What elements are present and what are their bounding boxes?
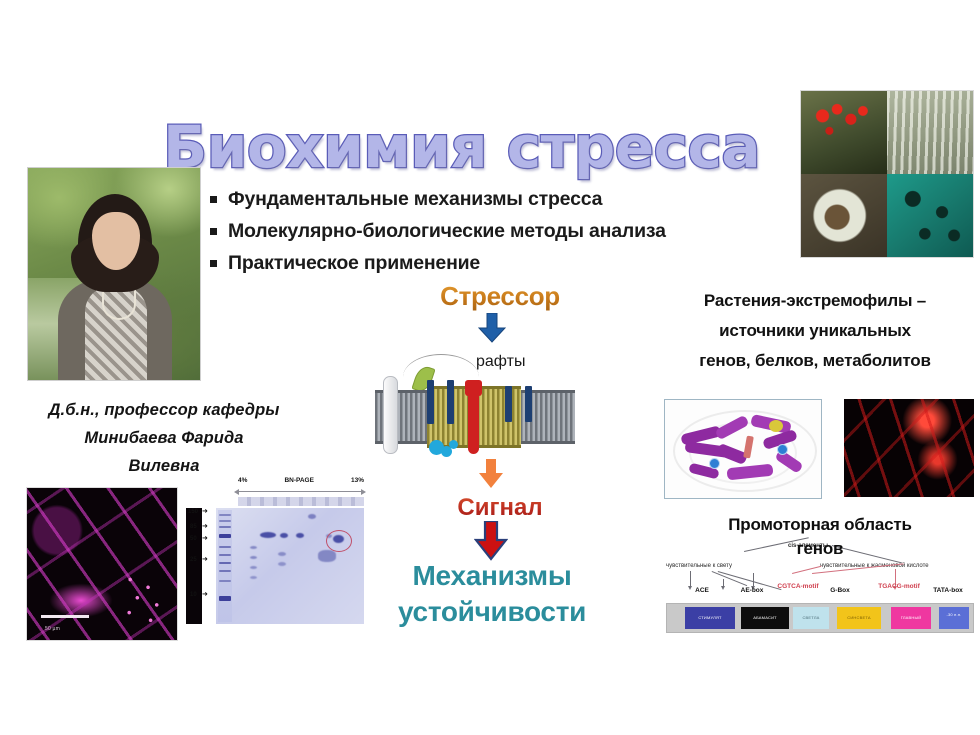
- rafts-label: рафты: [476, 353, 525, 371]
- gel-gradient-arrow-icon: [238, 491, 362, 492]
- gel-header: 4% BN-PAGE 13%: [238, 477, 364, 484]
- promoter-element-label: TGACG-motif: [872, 583, 926, 590]
- arrow-down-blue-icon: [478, 313, 506, 343]
- scale-bar-label: 50 µm: [45, 626, 60, 632]
- promoter-element-label: G-Box: [818, 587, 862, 594]
- extremophile-caption: Растения-экстремофилы – источники уникал…: [650, 286, 980, 376]
- gel-marker: 50: [190, 536, 197, 542]
- channel-protein: [383, 376, 398, 454]
- mechanisms-line-2: устойчивости: [398, 596, 586, 627]
- collage-photo-leaf-teal: [887, 174, 973, 257]
- gel-marker: 25: [190, 557, 197, 563]
- gel-header-right: 13%: [351, 477, 364, 484]
- promoter-region-diagram: cis-элементы чувствительные к свету чувс…: [660, 513, 980, 641]
- arrow-down-orange-icon: [478, 459, 504, 489]
- gel-marker-arrow-icon: ➜: [202, 523, 208, 530]
- portrait-photo: [27, 167, 201, 381]
- author-line-1: Д.б.н., профессор кафедры: [14, 396, 314, 424]
- transmembrane-protein: [525, 386, 532, 422]
- membrane-diagram: [375, 368, 575, 460]
- gel-ladder-lane: [218, 510, 232, 622]
- author-caption: Д.б.н., профессор кафедры Минибаева Фари…: [14, 396, 314, 480]
- protein-structure-image: [664, 399, 822, 499]
- collage-photo-lichen-white: [887, 91, 973, 174]
- gel-marker: 150: [188, 509, 198, 515]
- transmembrane-protein: [427, 380, 434, 424]
- promoter-box-text: СТИМУЛЯТ: [685, 607, 735, 620]
- page-title: Биохимия стресса: [163, 113, 763, 181]
- light-sensitive-label: чувствительные к свету: [666, 563, 732, 569]
- nadph-oxidase-protein: [468, 380, 479, 454]
- bullet-square-icon: [210, 228, 217, 235]
- gel-top-strip: [238, 497, 364, 506]
- presentation-slide: Биохимия стресса Фундаментальные механиз…: [0, 0, 980, 735]
- signaling-molecule: [449, 440, 458, 449]
- author-line-2: Минибаева Фарида: [14, 424, 314, 452]
- mechanisms-label: Механизмы устойчивости: [372, 558, 612, 630]
- photo-necklace: [102, 288, 136, 320]
- promoter-title-line-2: генов: [660, 537, 980, 561]
- gel-header-mid: BN-PAGE: [284, 477, 314, 484]
- promoter-box-tata: -30 п.н.: [939, 607, 969, 629]
- promoter-box-ace: СТИМУЛЯТ: [685, 607, 735, 629]
- promoter-title-line-1: Промоторная область: [728, 515, 911, 534]
- gel-electrophoresis-image: 4% BN-PAGE 13%: [186, 475, 364, 642]
- fluorescence-network: [844, 399, 974, 497]
- scale-bar: [41, 615, 89, 618]
- promoter-element-label: CGTCA-motif: [772, 583, 824, 590]
- gel-marker-arrow-icon: ➜: [202, 535, 208, 542]
- right-text-line-1: Растения-экстремофилы –: [650, 286, 980, 316]
- bullet-text: Молекулярно-биологические методы анализа: [228, 218, 666, 244]
- fluorescence-microscopy-image: [844, 399, 974, 497]
- promoter-box-text: СИНСВЕТА: [837, 607, 881, 620]
- promoter-box-text: АБАМАСИТ: [741, 607, 789, 620]
- collage-photo-lichen-red: [801, 91, 887, 174]
- confocal-puncta: [120, 573, 171, 628]
- promoter-element-label: AE-box: [730, 587, 774, 594]
- promoter-box-text: СВЕТЛА: [793, 607, 829, 620]
- right-text-line-3: генов, белков, метаболитов: [650, 346, 980, 376]
- list-item: Фундаментальные механизмы стресса: [210, 186, 810, 212]
- promoter-box-ae: АБАМАСИТ: [741, 607, 789, 629]
- gel-marker: 85: [190, 524, 197, 530]
- stressor-label: Стрессор: [410, 281, 590, 312]
- promoter-box-gbox: СИНСВЕТА: [837, 607, 881, 629]
- arrow-down-red-icon: [474, 521, 508, 561]
- signal-label: Сигнал: [430, 494, 570, 522]
- promoter-box-text: -30 п.н.: [939, 607, 969, 618]
- confocal-microscopy-image: 50 µm: [26, 487, 178, 641]
- bullet-text: Практическое применение: [228, 250, 480, 276]
- bullet-text: Фундаментальные механизмы стресса: [228, 186, 602, 212]
- mechanisms-line-1: Механизмы: [413, 560, 572, 591]
- membrane-curve: [403, 354, 479, 377]
- right-text-line-2: источники уникальных: [650, 316, 980, 346]
- promoter-box-text: ГЛАВНЫЙ: [891, 607, 931, 620]
- gel-marker-arrow-icon: ➜: [202, 591, 208, 598]
- promoter-box-tgacg: ГЛАВНЫЙ: [891, 607, 931, 629]
- promoter-title: Промоторная область генов: [660, 513, 980, 561]
- list-item: Молекулярно-биологические методы анализа: [210, 218, 810, 244]
- bullet-square-icon: [210, 260, 217, 267]
- bullet-square-icon: [210, 196, 217, 203]
- zinc-ion: [709, 458, 720, 469]
- extremophile-photo-collage: [800, 90, 974, 258]
- promoter-track: СТИМУЛЯТ АБАМАСИТ СВЕТЛА СИНСВЕТА ГЛАВНЫ…: [666, 603, 974, 633]
- gel-marker-arrow-icon: ➜: [202, 556, 208, 563]
- gel-header-left: 4%: [238, 477, 247, 484]
- transmembrane-protein: [447, 380, 454, 424]
- zinc-ion: [777, 444, 788, 455]
- gel-marker: 10: [190, 592, 197, 598]
- transmembrane-protein: [505, 386, 512, 422]
- collage-photo-lichen-rosette: [801, 174, 887, 257]
- bullet-list: Фундаментальные механизмы стресса Молеку…: [210, 186, 810, 282]
- highlight-circle: [326, 530, 352, 552]
- promoter-element-label: ACE: [684, 587, 720, 594]
- gel-body: [216, 508, 364, 624]
- promoter-element-label: TATA-box: [924, 587, 972, 594]
- promoter-box-cgtca: СВЕТЛА: [793, 607, 829, 629]
- list-item: Практическое применение: [210, 250, 810, 276]
- gel-marker-arrow-icon: ➜: [202, 508, 208, 515]
